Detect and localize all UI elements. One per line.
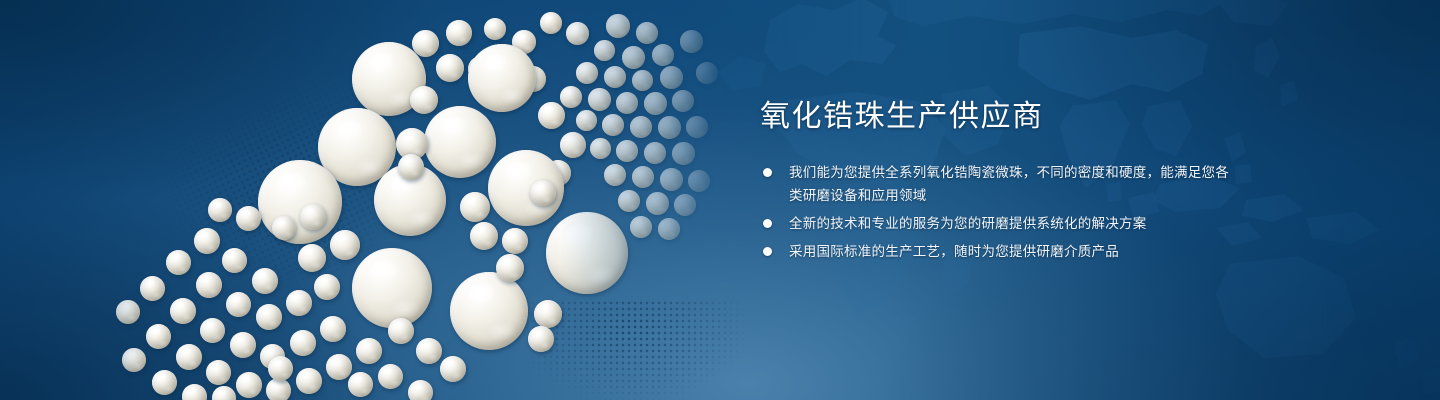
feature-bullet-item: 全新的技术和专业的服务为您的研磨提供系统化的解决方案 xyxy=(760,212,1230,235)
hero-banner: 氧化锆珠生产供应商 我们能为您提供全系列氧化锆陶瓷微珠，不同的密度和硬度，能满足… xyxy=(0,0,1440,400)
feature-bullet-text: 采用国际标准的生产工艺，随时为您提供研磨介质产品 xyxy=(789,244,1119,259)
bullet-dot-icon xyxy=(763,168,772,177)
feature-bullet-item: 我们能为您提供全系列氧化锆陶瓷微珠，不同的密度和硬度，能满足您各类研磨设备和应用… xyxy=(760,161,1230,207)
banner-copy: 氧化锆珠生产供应商 我们能为您提供全系列氧化锆陶瓷微珠，不同的密度和硬度，能满足… xyxy=(760,100,1230,268)
bullet-dot-icon xyxy=(763,247,772,256)
feature-bullet-text: 我们能为您提供全系列氧化锆陶瓷微珠，不同的密度和硬度，能满足您各类研磨设备和应用… xyxy=(789,165,1229,203)
feature-bullet-item: 采用国际标准的生产工艺，随时为您提供研磨介质产品 xyxy=(760,240,1230,263)
feature-bullet-text: 全新的技术和专业的服务为您的研磨提供系统化的解决方案 xyxy=(789,216,1147,231)
banner-headline: 氧化锆珠生产供应商 xyxy=(760,100,1230,135)
bullet-dot-icon xyxy=(763,219,772,228)
feature-bullet-list: 我们能为您提供全系列氧化锆陶瓷微珠，不同的密度和硬度，能满足您各类研磨设备和应用… xyxy=(760,161,1230,263)
